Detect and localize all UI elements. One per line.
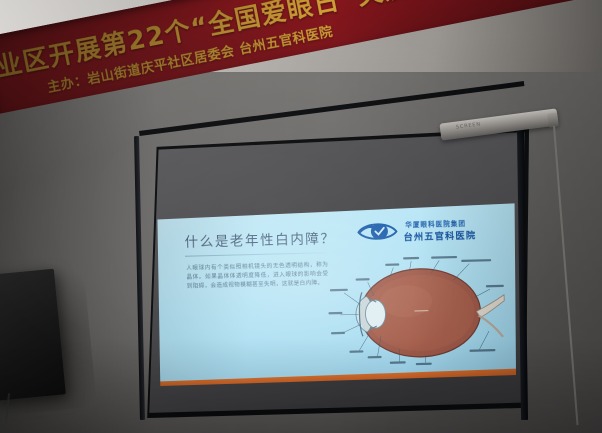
eye-cross-section-diagram [327,249,510,376]
slide-title: 什么是老年性白内障？ [184,227,335,251]
slide-content: 什么是老年性白内障？ 人眼球内有个类似照相机镜头的无色透明结构，称为晶体。如果晶… [156,203,516,386]
roller-brand-label: SCREEN [456,121,482,130]
logo-hospital-name: 台州五官科医院 [403,227,476,243]
slide-title-rule [185,252,327,257]
eye-logo-icon [357,220,398,242]
hospital-logo: 华厦眼科医院集团 台州五官科医院 [357,215,503,249]
room-photo-scene: 业区开展第22个“全国爱眼日”关爱眼健康科普讲 主办：岩山街道庆平社区居委会 台… [0,0,602,433]
projected-slide: 什么是老年性白内障？ 人眼球内有个类似照相机镜头的无色透明结构，称为晶体。如果晶… [156,203,516,386]
slide-body-text: 人眼球内有个类似照相机镜头的无色透明结构，称为晶体。如果晶体体透明度降低，进入眼… [186,261,329,292]
